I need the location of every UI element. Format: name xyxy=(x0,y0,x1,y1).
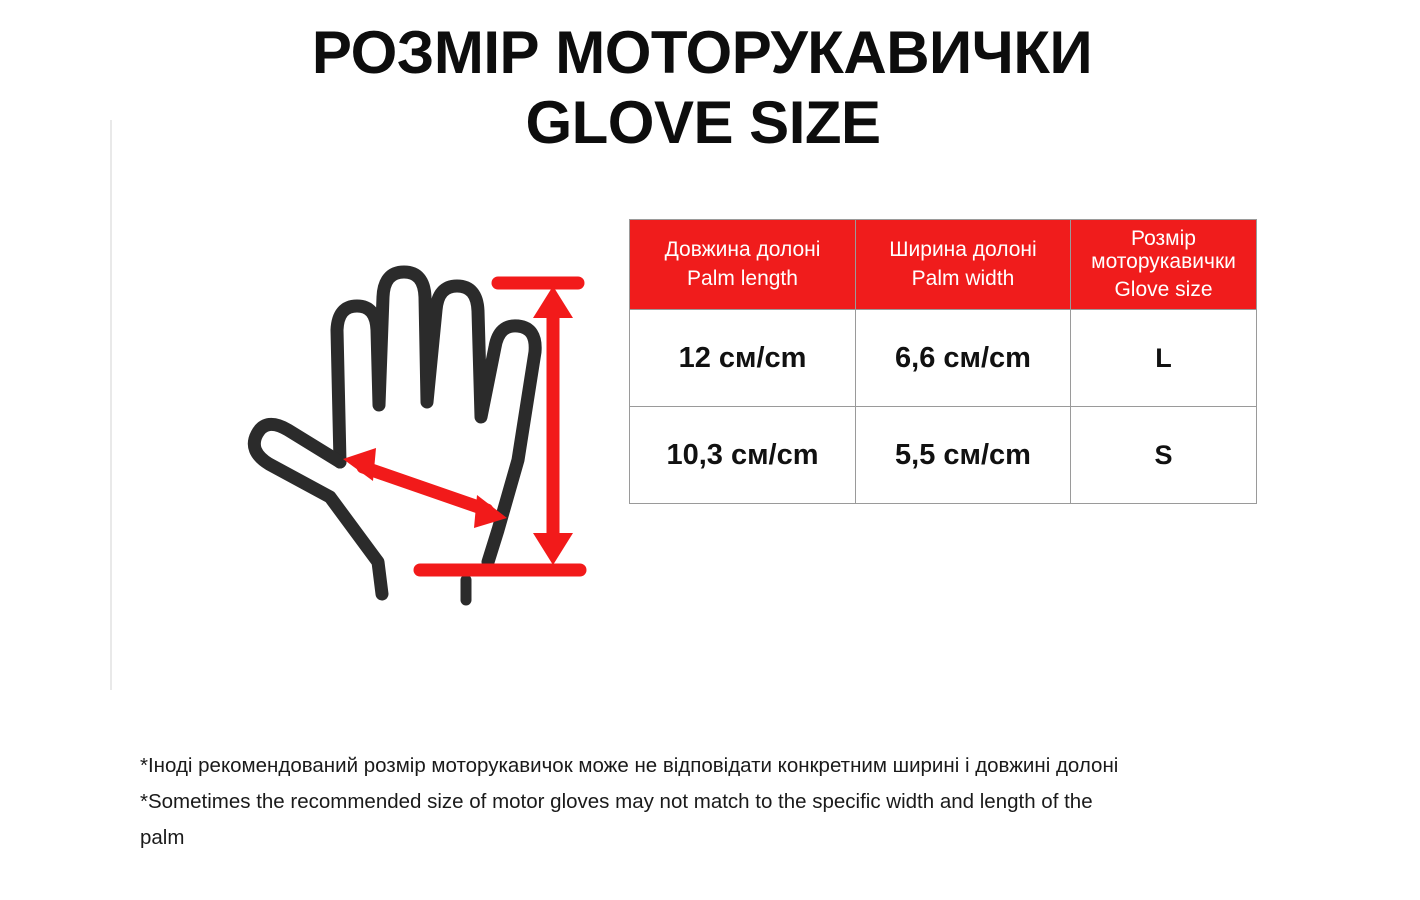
cell-palm-width: 6,6 см/cm xyxy=(856,310,1071,407)
hand-measurement-diagram xyxy=(240,262,610,612)
column-header-palm-width: Ширина долоні Palm width xyxy=(856,220,1071,310)
column-header-glove-size: Розмір моторукавички Glove size xyxy=(1071,220,1257,310)
column-header-palm-width-en: Palm width xyxy=(856,266,1070,292)
left-guide-rule xyxy=(110,120,112,690)
column-header-palm-length-ua: Довжина долоні xyxy=(630,237,855,262)
glove-size-chart-page: РОЗМІР МОТОРУКАВИЧКИ GLOVE SIZE xyxy=(0,0,1420,900)
footnote-english-continued: palm xyxy=(140,820,1340,856)
cell-palm-width: 5,5 см/cm xyxy=(856,407,1071,504)
footnotes: *Іноді рекомендований розмір моторукавич… xyxy=(140,748,1340,856)
footnote-ukrainian: *Іноді рекомендований розмір моторукавич… xyxy=(140,748,1340,784)
hand-outline-icon xyxy=(254,272,535,594)
cell-glove-size: S xyxy=(1071,407,1257,504)
glove-size-table: Довжина долоні Palm length Ширина долоні… xyxy=(629,219,1257,504)
cell-palm-length: 10,3 см/cm xyxy=(630,407,856,504)
title-line-ukrainian: РОЗМІР МОТОРУКАВИЧКИ xyxy=(0,18,1420,88)
column-header-palm-length: Довжина долоні Palm length xyxy=(630,220,856,310)
column-header-palm-width-ua: Ширина долоні xyxy=(856,237,1070,262)
page-title: РОЗМІР МОТОРУКАВИЧКИ GLOVE SIZE xyxy=(0,18,1420,158)
column-header-glove-size-ua: Розмір моторукавички xyxy=(1071,227,1256,273)
footnote-english: *Sometimes the recommended size of motor… xyxy=(140,784,1340,820)
table-row: 12 см/cm 6,6 см/cm L xyxy=(630,310,1257,407)
title-line-english: GLOVE SIZE xyxy=(0,88,1420,158)
column-header-palm-length-en: Palm length xyxy=(630,266,855,292)
cell-palm-length: 12 см/cm xyxy=(630,310,856,407)
cell-glove-size: L xyxy=(1071,310,1257,407)
table-header-row: Довжина долоні Palm length Ширина долоні… xyxy=(630,220,1257,310)
table-row: 10,3 см/cm 5,5 см/cm S xyxy=(630,407,1257,504)
palm-width-arrow xyxy=(343,448,507,528)
column-header-glove-size-en: Glove size xyxy=(1071,277,1256,303)
palm-length-arrow xyxy=(533,286,573,565)
